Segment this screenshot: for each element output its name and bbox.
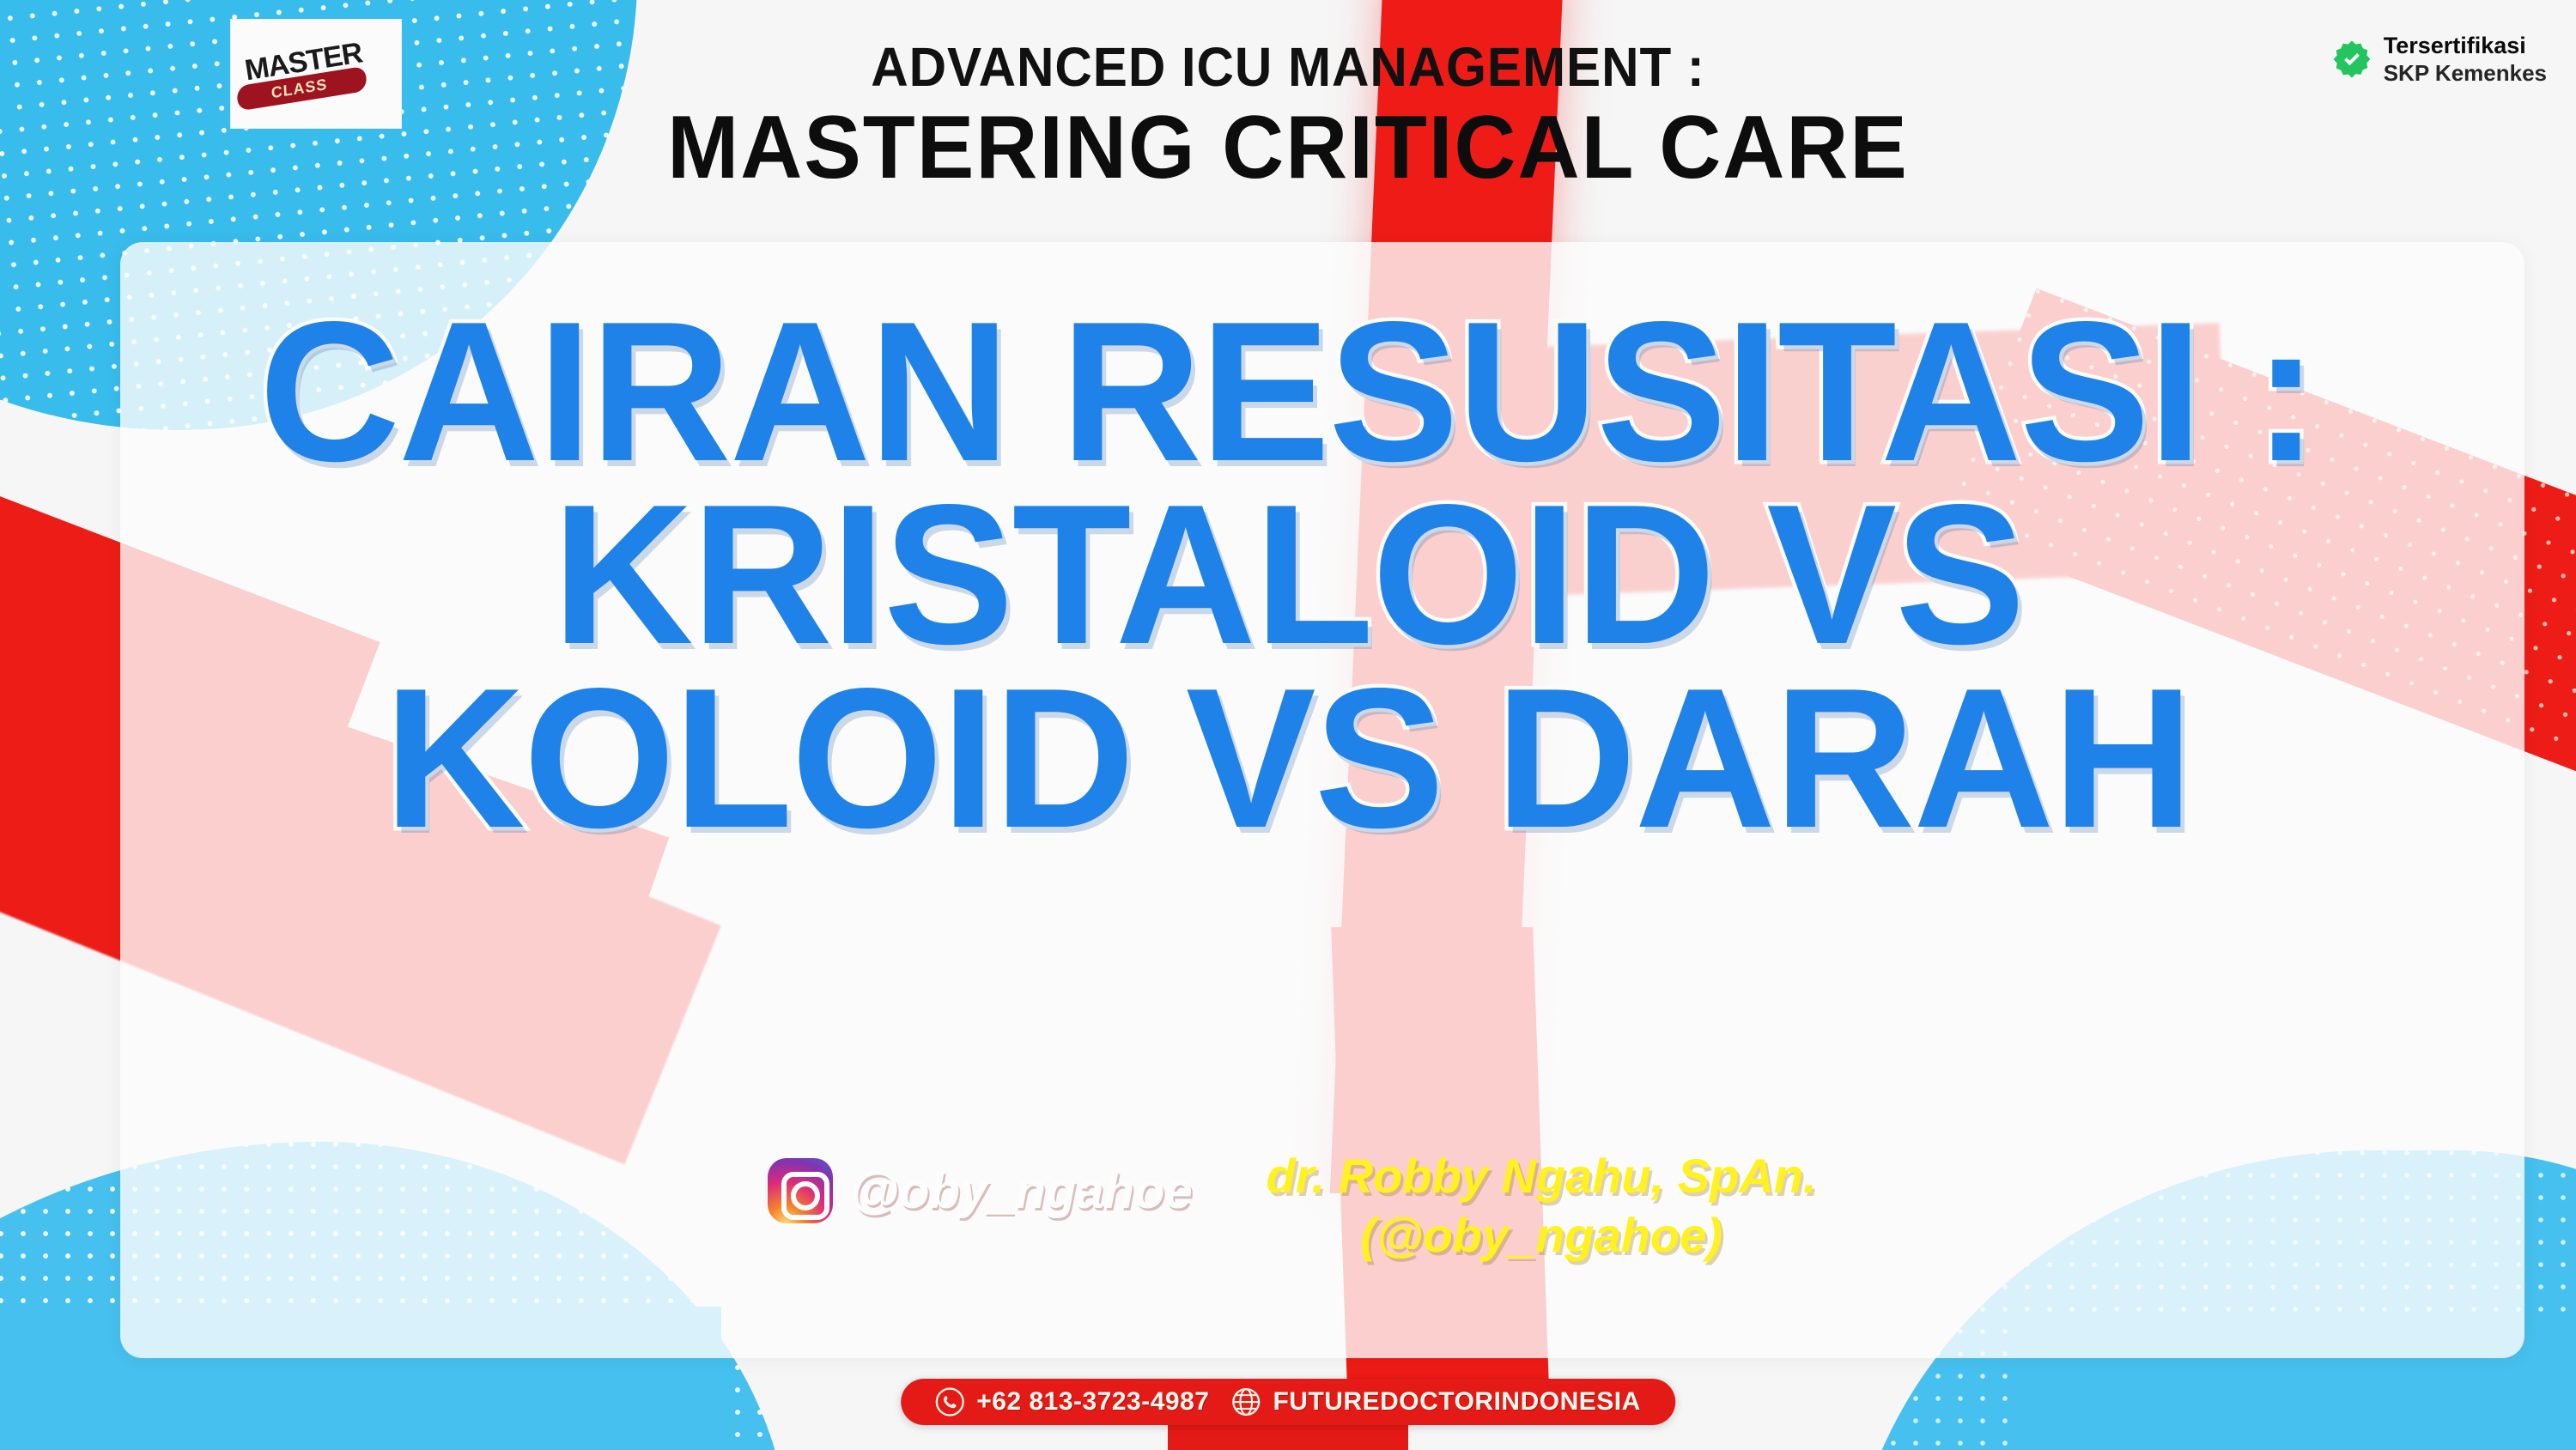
globe-icon [1231, 1387, 1261, 1417]
presenter-block: dr. Robby Ngahu, SpAn. (@oby_ngahoe) [1267, 1146, 1817, 1265]
footer-website-text: FUTUREDOCTORINDONESIA [1273, 1387, 1640, 1417]
title-line-2: KRISTALOID VS [26, 483, 2550, 666]
title-line-3: KOLOID VS DARAH [26, 667, 2550, 850]
instagram-handle-pill[interactable]: @oby_ngahoe [759, 1151, 1214, 1230]
title-line-1: CAIRAN RESUSITASI : [26, 300, 2550, 483]
footer-website-item[interactable]: FUTUREDOCTORINDONESIA [1231, 1387, 1640, 1417]
certification-text: Tersertifikasi SKP Kemenkes [2384, 33, 2547, 87]
certification-line-1: Tersertifikasi [2384, 33, 2547, 60]
presenter-handle: (@oby_ngahoe) [1267, 1205, 1817, 1265]
certification-badge: Tersertifikasi SKP Kemenkes [2332, 33, 2547, 87]
certification-line-2: SKP Kemenkes [2384, 60, 2547, 87]
presenter-name: dr. Robby Ngahu, SpAn. [1267, 1146, 1817, 1205]
header-kicker: ADVANCED ICU MANAGEMENT : [77, 0, 2499, 94]
brand-logo: MASTER CLASS [230, 19, 402, 129]
slide-canvas: ADVANCED ICU MANAGEMENT : MASTERING CRIT… [0, 0, 2576, 1450]
instagram-handle-text: @oby_ngahoe [850, 1162, 1192, 1220]
main-title: CAIRAN RESUSITASI : KRISTALOID VS KOLOID… [0, 300, 2576, 850]
header-subtitle: MASTERING CRITICAL CARE [52, 94, 2524, 192]
footer-phone-text: +62 813-3723-4987 [976, 1387, 1209, 1417]
verified-check-icon [2332, 39, 2372, 79]
brand-logo-badge: MASTER CLASS [230, 36, 368, 116]
footer-contact-bar: +62 813-3723-4987 FUTUREDOCTORINDONESIA [901, 1379, 1675, 1425]
presenter-row: @oby_ngahoe dr. Robby Ngahu, SpAn. (@oby… [0, 1146, 2576, 1265]
whatsapp-icon [935, 1387, 964, 1417]
instagram-icon [768, 1158, 833, 1223]
footer-phone-item[interactable]: +62 813-3723-4987 [935, 1387, 1209, 1417]
